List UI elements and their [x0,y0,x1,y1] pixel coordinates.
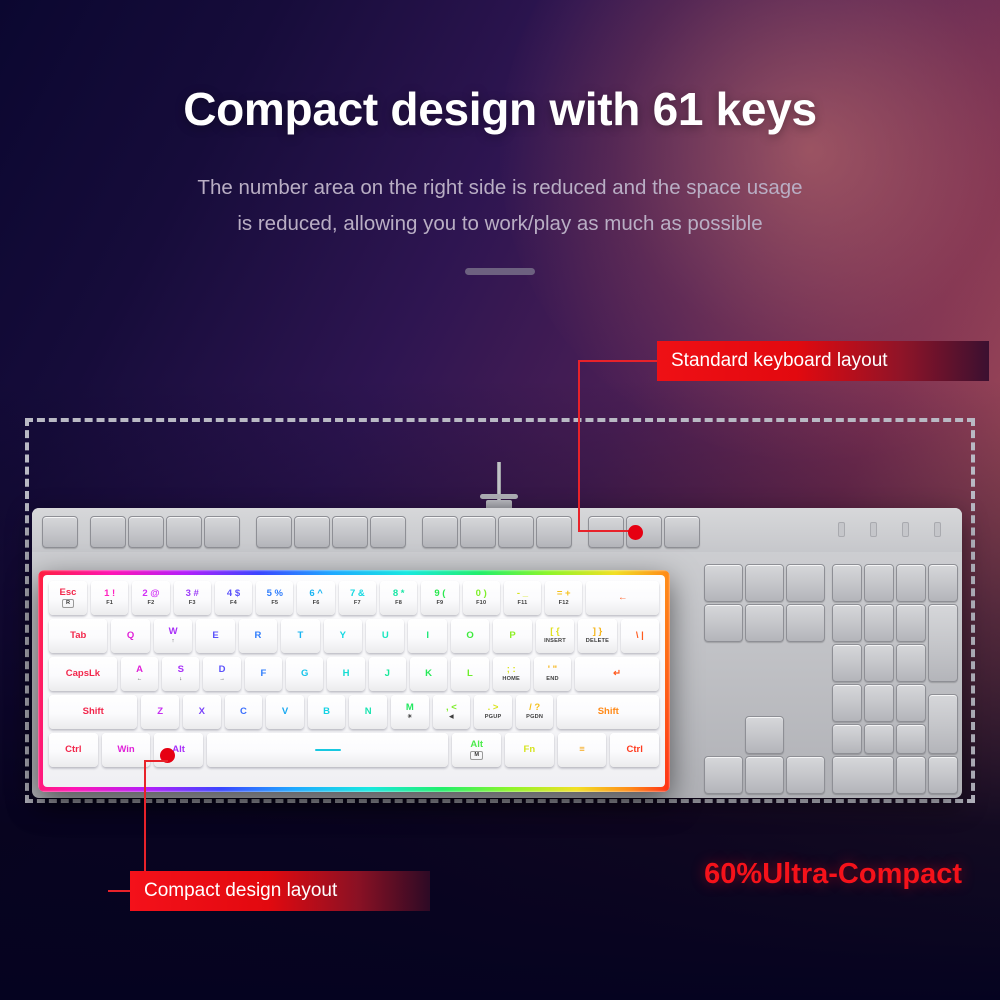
keycap[interactable]: ; :HOME [493,657,530,691]
keycap[interactable]: ← [586,581,659,615]
keycap[interactable]: P [493,619,531,653]
keycap-legend: M [406,703,414,713]
keycap[interactable]: W↑ [154,619,192,653]
fullsize-keycap [832,564,862,602]
keycap-legend: R [255,631,262,641]
subtitle-line-1: The number area on the right side is red… [110,170,890,206]
keycap-legend: T [297,631,303,641]
fullsize-keycap [786,604,825,642]
fullsize-keycap [864,724,894,754]
keycap-row: TabQW↑ERTYUIOP[ {INSERT] }DELETE\ | [43,619,665,653]
keycap-legend: A [136,665,143,675]
keycap-sublegend: → [219,677,225,683]
fullsize-keycap [896,756,926,794]
callout-line-top-horizontal [578,360,660,362]
keycap[interactable]: [ {INSERT [536,619,574,653]
fullsize-keycap [294,516,330,548]
keycap[interactable]: N [349,695,387,729]
keycap-legend: \ | [636,631,644,641]
keycap[interactable]: Win [102,733,151,767]
keycap-sublegend: F12 [559,601,569,607]
keycap[interactable]: Fn [505,733,554,767]
callout-banner-standard-layout: Standard keyboard layout [657,341,989,381]
keycap-legend: K [425,669,432,679]
fullsize-keycap [498,516,534,548]
status-led [934,522,941,537]
sixty-percent-keyboard-plate: EscR1 !F12 @F23 #F34 $F45 %F56 ^F67 &F78… [43,575,665,787]
keycap-legend: Shift [598,707,619,717]
keycap-sublegend: F8 [395,601,402,607]
keycap-sublegend: ☀ [407,715,412,721]
keycap[interactable]: Ctrl [49,733,98,767]
keycap[interactable]: 7 &F7 [339,581,376,615]
fullsize-keycap [896,564,926,602]
keycap[interactable]: ' "END [534,657,571,691]
keycap[interactable]: K [410,657,447,691]
keycap[interactable]: / ?PGDN [516,695,554,729]
keycap-sublegend: R [62,599,74,608]
keycap[interactable]: Shift [49,695,137,729]
keycap[interactable]: J [369,657,406,691]
page-subtitle: The number area on the right side is red… [110,170,890,242]
fullsize-keycap [832,644,862,682]
fullsize-keycap [928,756,958,794]
keycap[interactable]: M☀ [391,695,429,729]
keycap-legend: Y [340,631,346,641]
keycap[interactable]: ↵ [575,657,659,691]
keycap[interactable]: = +F12 [545,581,582,615]
keycap-legend: . > [488,703,499,713]
keycap[interactable]: Z [141,695,179,729]
keycap-sublegend: F10 [476,601,486,607]
keycap[interactable]: D→ [203,657,240,691]
keycap[interactable]: G [286,657,323,691]
keycap-row: ShiftZXCVBNM☀, <◀. >PGUP/ ?PGDNShift [43,695,665,729]
keycap[interactable]: 9 (F9 [421,581,458,615]
keycap[interactable] [207,733,448,767]
divider-pill [465,268,535,275]
fullsize-keycap [704,564,743,602]
keycap-legend: N [365,707,372,717]
keycap-legend: D [219,665,226,675]
keycap-sublegend: DELETE [586,639,609,645]
keycap-legend: H [343,669,350,679]
keycap-sublegend: END [546,677,558,683]
keycap[interactable]: . >PGUP [474,695,512,729]
fullsize-keycap [896,604,926,642]
keycap-legend: B [323,707,330,717]
keycap[interactable]: CapsLk [49,657,117,691]
fullsize-keycap [745,716,784,754]
keycap-legend: - _ [517,589,528,599]
keycap-legend: 1 ! [104,589,115,599]
keycap-legend: 7 & [350,589,365,599]
fullsize-keycap [864,644,894,682]
page-title: Compact design with 61 keys [0,82,1000,136]
fullsize-keycap [745,604,784,642]
keycap-legend: Q [127,631,134,641]
keycap-sublegend: F11 [518,601,528,607]
fullsize-keycap [745,564,784,602]
keycap-sublegend: HOME [502,677,520,683]
fullsize-keycap [460,516,496,548]
keycap[interactable]: O [451,619,489,653]
keycap-sublegend: ◀ [449,715,454,721]
callout-line-top-vertical [578,360,580,532]
keycap-legend: F [261,669,267,679]
keycap-legend: X [199,707,205,717]
callout-dot-standard [628,525,643,540]
fullsize-keycap [422,516,458,548]
keycap-legend: ≡ [579,745,585,755]
keycap-legend: P [509,631,515,641]
fullsize-keycap [166,516,202,548]
keycap[interactable]: Q [111,619,149,653]
keycap-legend: 3 # [186,589,199,599]
keycap-legend: U [382,631,389,641]
keycap-legend: 6 ^ [309,589,322,599]
keycap[interactable]: 6 ^F6 [297,581,334,615]
keycap[interactable]: V [266,695,304,729]
keycap[interactable]: F [245,657,282,691]
fullsize-keycap [896,724,926,754]
fullsize-keycap [204,516,240,548]
keycap-legend: C [240,707,247,717]
keycap[interactable]: 2 @F2 [132,581,169,615]
fullsize-keycap [90,516,126,548]
keycap-row: CtrlWinAltAltMFn≡Ctrl [43,733,665,767]
keycap-legend: W [169,627,178,637]
status-led [870,522,877,537]
keycap-legend: 9 ( [434,589,445,599]
fullsize-keycap [42,516,78,548]
keycap[interactable]: ≡ [558,733,607,767]
fullsize-keycap [928,604,958,682]
keycap[interactable]: T [281,619,319,653]
keycap[interactable]: Tab [49,619,107,653]
callout-banner-compact-layout: Compact design layout [130,871,430,911]
keycap[interactable]: I [408,619,446,653]
fullsize-keycap [864,564,894,602]
keycap-legend: S [178,665,184,675]
keycap-sublegend: PGDN [526,715,543,721]
keycap[interactable]: Shift [557,695,659,729]
keycap-legend: 5 % [267,589,283,599]
keycap-legend: Esc [60,588,77,598]
keycap-legend: ] } [593,627,603,637]
status-led [838,522,845,537]
keycap-legend: ↵ [613,669,621,679]
fullsize-keycap [256,516,292,548]
fullsize-keycap [832,724,862,754]
fullsize-keycap [588,516,624,548]
keycap-legend: 2 @ [142,589,159,599]
keycap-legend: J [385,669,390,679]
keycap-legend: ' " [548,665,557,675]
keycap-legend: Ctrl [65,745,81,755]
keycap-row: CapsLkA←S↓D→FGHJKL; :HOME' "END↵ [43,657,665,691]
keycap-legend: = + [557,589,571,599]
fullsize-keycap [928,694,958,754]
keycap-legend: Ctrl [626,745,642,755]
keycap[interactable]: X [183,695,221,729]
fullsize-keycap [786,564,825,602]
keycap[interactable]: R [239,619,277,653]
keycap-sublegend: INSERT [544,639,566,645]
keycap-legend: G [301,669,308,679]
keycap[interactable]: AltM [452,733,501,767]
keycap-legend: CapsLk [66,669,100,679]
keycap[interactable]: 4 $F4 [215,581,252,615]
keycap-legend: 0 ) [476,589,487,599]
tagline-ultra-compact: 60%Ultra-Compact [704,858,962,891]
keycap[interactable]: 1 !F1 [91,581,128,615]
fullsize-keycap [896,684,926,722]
fullsize-keycap [832,604,862,642]
keycap[interactable]: EscR [49,581,87,615]
fullsize-keycap [128,516,164,548]
fullsize-keycap [332,516,368,548]
keycap-sublegend: M [470,751,483,760]
keycap-sublegend: F2 [147,601,154,607]
sixty-percent-keyboard: EscR1 !F12 @F23 #F34 $F45 %F56 ^F67 &F78… [38,570,670,792]
product-banner: Compact design with 61 keys The number a… [0,0,1000,1000]
fullsize-keycap [704,756,743,794]
keycap-sublegend: ↑ [172,639,175,645]
subtitle-line-2: is reduced, allowing you to work/play as… [110,206,890,242]
keycap[interactable]: H [327,657,364,691]
keycap-legend: V [282,707,288,717]
keycap[interactable]: 5 %F5 [256,581,293,615]
keycap-legend: 4 $ [227,589,240,599]
keycap-legend: Z [157,707,163,717]
keycap-legend: Alt [470,740,483,750]
keycap-legend: ← [618,593,628,603]
keycap-sublegend: F7 [354,601,361,607]
fullsize-keycap [786,756,825,794]
keycap-legend: ; : [507,665,516,675]
keycap-legend: Tab [70,631,86,641]
keycap[interactable]: \ | [621,619,659,653]
keycap-legend: Fn [524,745,536,755]
keyboard-cable-ring [480,494,518,499]
keycap[interactable]: 8 *F8 [380,581,417,615]
fullsize-keycap [704,604,743,642]
fullsize-keycap [370,516,406,548]
keycap[interactable]: ] }DELETE [578,619,616,653]
keycap-sublegend: ← [137,677,143,683]
keycap-legend: [ { [550,627,560,637]
keycap-legend: O [466,631,473,641]
fullsize-keycap [864,684,894,722]
fullsize-keycap [832,756,894,794]
keycap-sublegend: F4 [230,601,237,607]
keycap[interactable]: Y [324,619,362,653]
fullsize-keycap [832,684,862,722]
keycap[interactable]: 0 )F10 [463,581,500,615]
keycap-legend: 8 * [393,589,405,599]
keycap-sublegend: PGUP [485,715,502,721]
keycap-legend: L [467,669,473,679]
status-led [902,522,909,537]
keycap[interactable]: E [196,619,234,653]
keycap[interactable]: , <◀ [433,695,471,729]
keycap-legend: / ? [529,703,540,713]
callout-line-bottom-horizontal [108,890,132,892]
keycap[interactable]: A← [121,657,158,691]
keycap-legend: E [212,631,218,641]
callout-line-bottom-top-stub [144,760,168,762]
keycap-row: EscR1 !F12 @F23 #F34 $F45 %F56 ^F67 &F78… [43,581,665,615]
fullsize-keycap [745,756,784,794]
keycap[interactable]: 3 #F3 [174,581,211,615]
fullsize-keycap [896,644,926,682]
keycap-legend: , < [446,703,457,713]
keycap-sublegend: ↓ [179,677,182,683]
fullsize-keycap [864,604,894,642]
keycap[interactable]: - _F11 [504,581,541,615]
keycap[interactable]: U [366,619,404,653]
spacebar-marker [315,749,341,752]
keycap[interactable]: C [225,695,263,729]
keycap-legend: I [426,631,429,641]
keycap-legend: Win [117,745,134,755]
keycap[interactable]: S↓ [162,657,199,691]
keycap-legend: Shift [83,707,104,717]
keycap-sublegend: F9 [436,601,443,607]
fullsize-keycap [664,516,700,548]
keycap[interactable]: L [451,657,488,691]
fullsize-keycap [536,516,572,548]
keycap-sublegend: F3 [189,601,196,607]
keycap[interactable]: B [308,695,346,729]
keycap-sublegend: F6 [313,601,320,607]
keycap[interactable]: Ctrl [610,733,659,767]
keycap-sublegend: F5 [271,601,278,607]
fullsize-keycap [928,564,958,602]
keycap-sublegend: F1 [106,601,113,607]
